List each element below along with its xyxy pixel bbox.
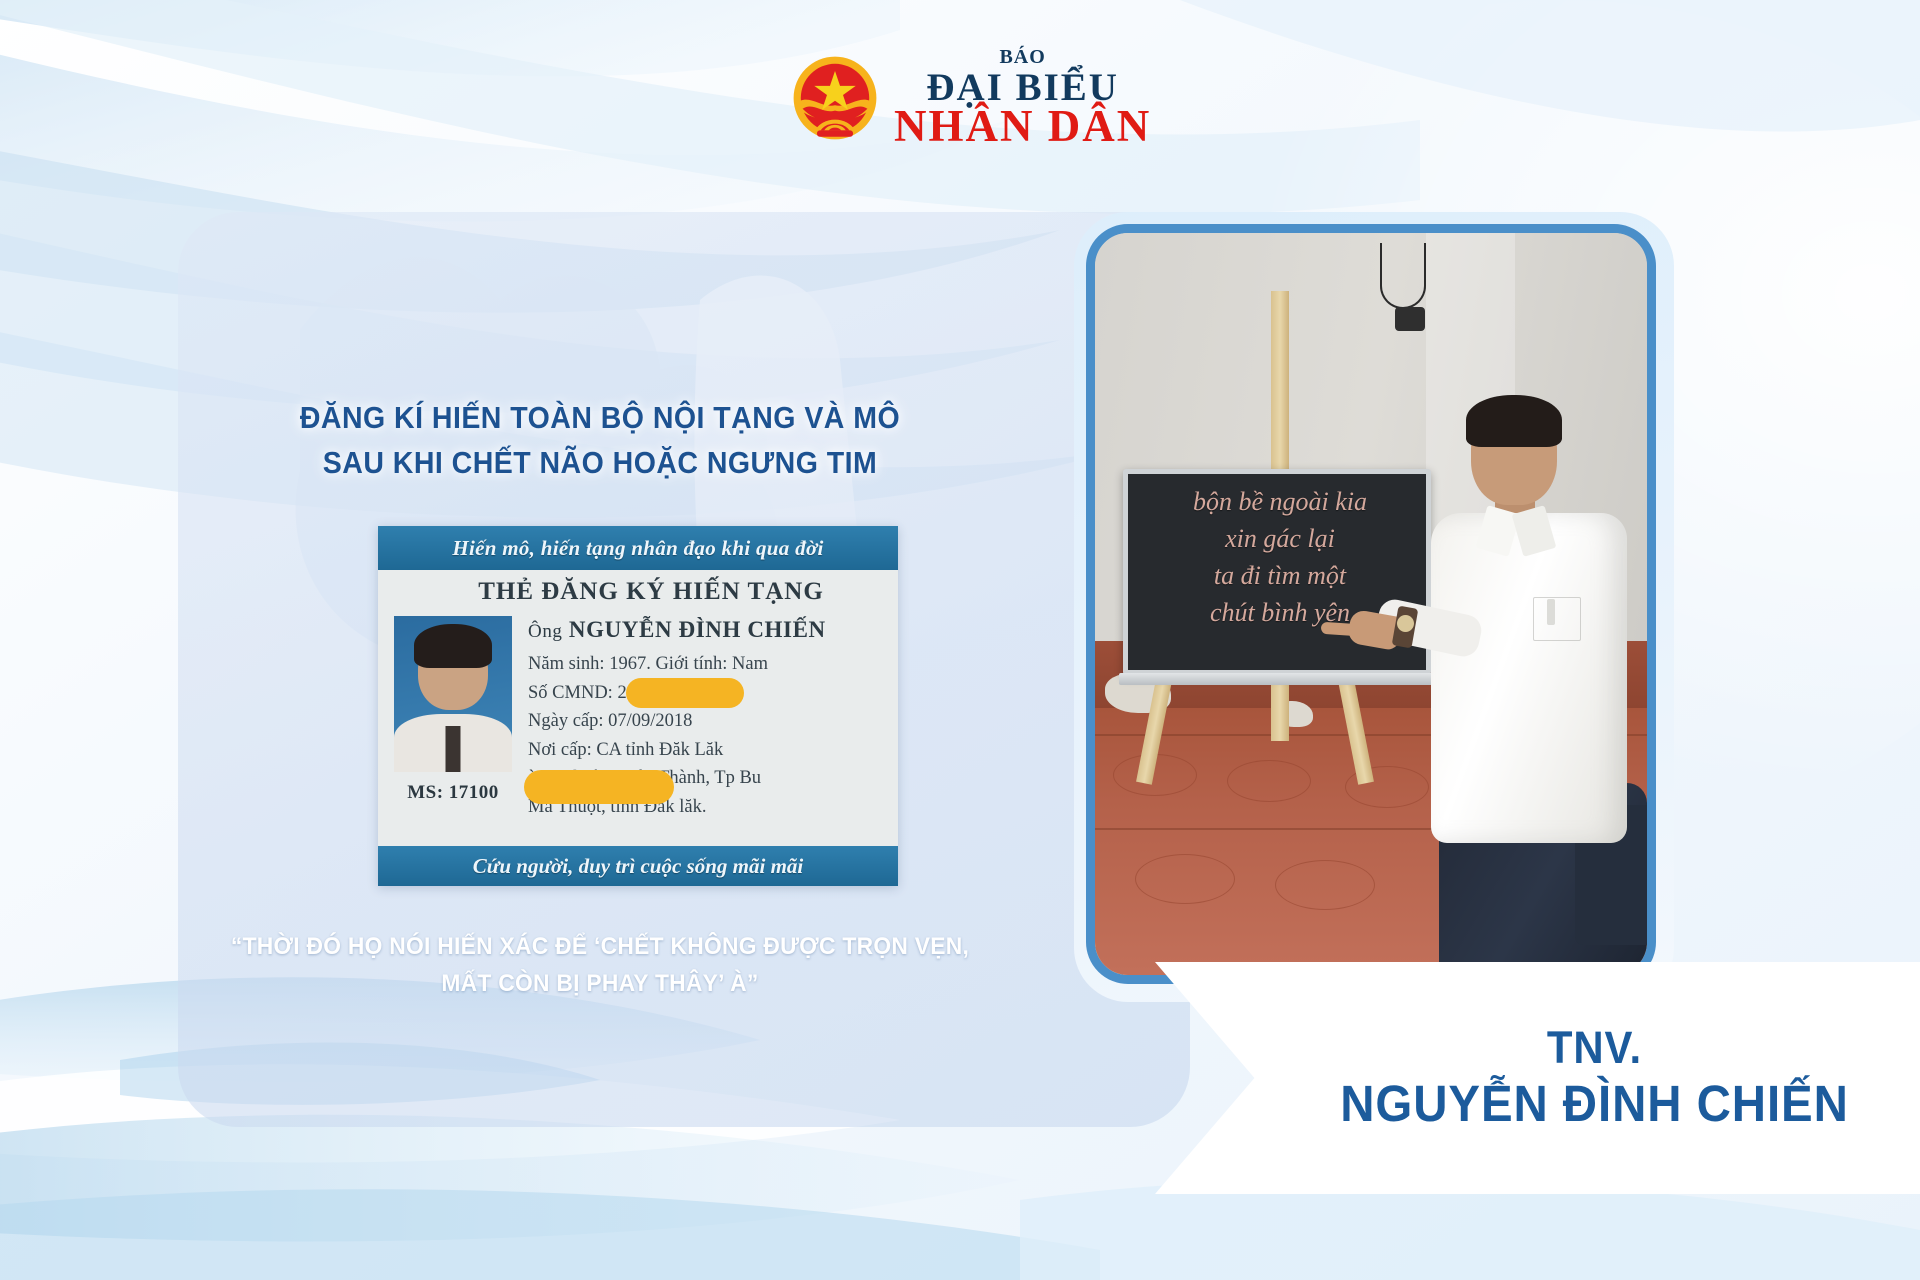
- chalk-line-3: ta đi tìm một: [1144, 558, 1416, 595]
- subject-photo: bộn bề ngoài kia xin gác lại ta đi tìm m…: [1086, 224, 1656, 984]
- logo-line-bao: BÁO: [999, 47, 1045, 67]
- redaction-mark-address: [524, 770, 674, 804]
- chalk-line-1: bộn bề ngoài kia: [1144, 484, 1416, 521]
- man-pointing-at-blackboard-icon: [1425, 401, 1656, 975]
- pull-quote: “THỜI ĐÓ HỌ NÓI HIẾN XÁC ĐỂ ‘CHẾT KHÔNG …: [173, 928, 1028, 1002]
- page-title: ĐĂNG KÍ HIẾN TOÀN BỘ NỘI TẠNG VÀ MÔ SAU …: [186, 396, 1014, 486]
- vietnam-national-emblem-icon: [790, 53, 880, 143]
- quote-line-1: “THỜI ĐÓ HỌ NÓI HIẾN XÁC ĐỂ ‘CHẾT KHÔNG …: [173, 928, 1028, 965]
- headline-line-1: ĐĂNG KÍ HIẾN TOÀN BỘ NỘI TẠNG VÀ MÔ: [186, 396, 1014, 441]
- headline-line-2: SAU KHI CHẾT NÃO HOẶC NGƯNG TIM: [186, 441, 1014, 486]
- banner-name: NGUYỄN ĐÌNH CHIẾN: [1340, 1074, 1849, 1134]
- card-body: THẺ ĐĂNG KÝ HIẾN TẠNG MS: 17100 Ông NGUY…: [378, 570, 898, 846]
- id-portrait-photo-icon: [394, 616, 512, 772]
- donor-registration-card: Hiến mô, hiến tạng nhân đạo khi qua đời …: [378, 526, 898, 886]
- hanging-cord-icon: [1380, 243, 1426, 309]
- chalk-line-2: xin gác lại: [1144, 521, 1416, 558]
- name-banner: TNV. NGUYỄN ĐÌNH CHIẾN: [1155, 962, 1920, 1194]
- banner-role: TNV.: [1547, 1021, 1642, 1074]
- card-ms-number: MS: 17100: [390, 782, 516, 804]
- clip-icon: [1395, 307, 1425, 331]
- redaction-mark-id: [626, 678, 744, 708]
- card-holder-name: Ông NGUYỄN ĐÌNH CHIẾN: [528, 612, 890, 647]
- card-bottom-band: Cứu người, duy trì cuộc sống mãi mãi: [378, 846, 898, 886]
- card-field-birth: Năm sinh: 1967. Giới tính: Nam: [528, 650, 890, 678]
- brand-logo: BÁO ĐẠI BIỂU NHÂN DÂN: [790, 40, 1150, 155]
- card-honorific: Ông: [528, 621, 563, 642]
- chalkboard-text: bộn bề ngoài kia xin gác lại ta đi tìm m…: [1144, 484, 1416, 632]
- logo-line-nhandan: NHÂN DÂN: [894, 104, 1151, 149]
- card-field-issue-place: Nơi cấp: CA tỉnh Đăk Lăk: [528, 736, 890, 764]
- quote-line-2: MẤT CÒN BỊ PHAY THÂY’ À”: [173, 965, 1028, 1002]
- card-name-value: NGUYỄN ĐÌNH CHIẾN: [569, 617, 826, 642]
- card-top-band: Hiến mô, hiến tạng nhân đạo khi qua đời: [378, 526, 898, 570]
- card-title: THẺ ĐĂNG KÝ HIẾN TẠNG: [404, 578, 898, 606]
- card-field-issue-date: Ngày cấp: 07/09/2018: [528, 707, 890, 735]
